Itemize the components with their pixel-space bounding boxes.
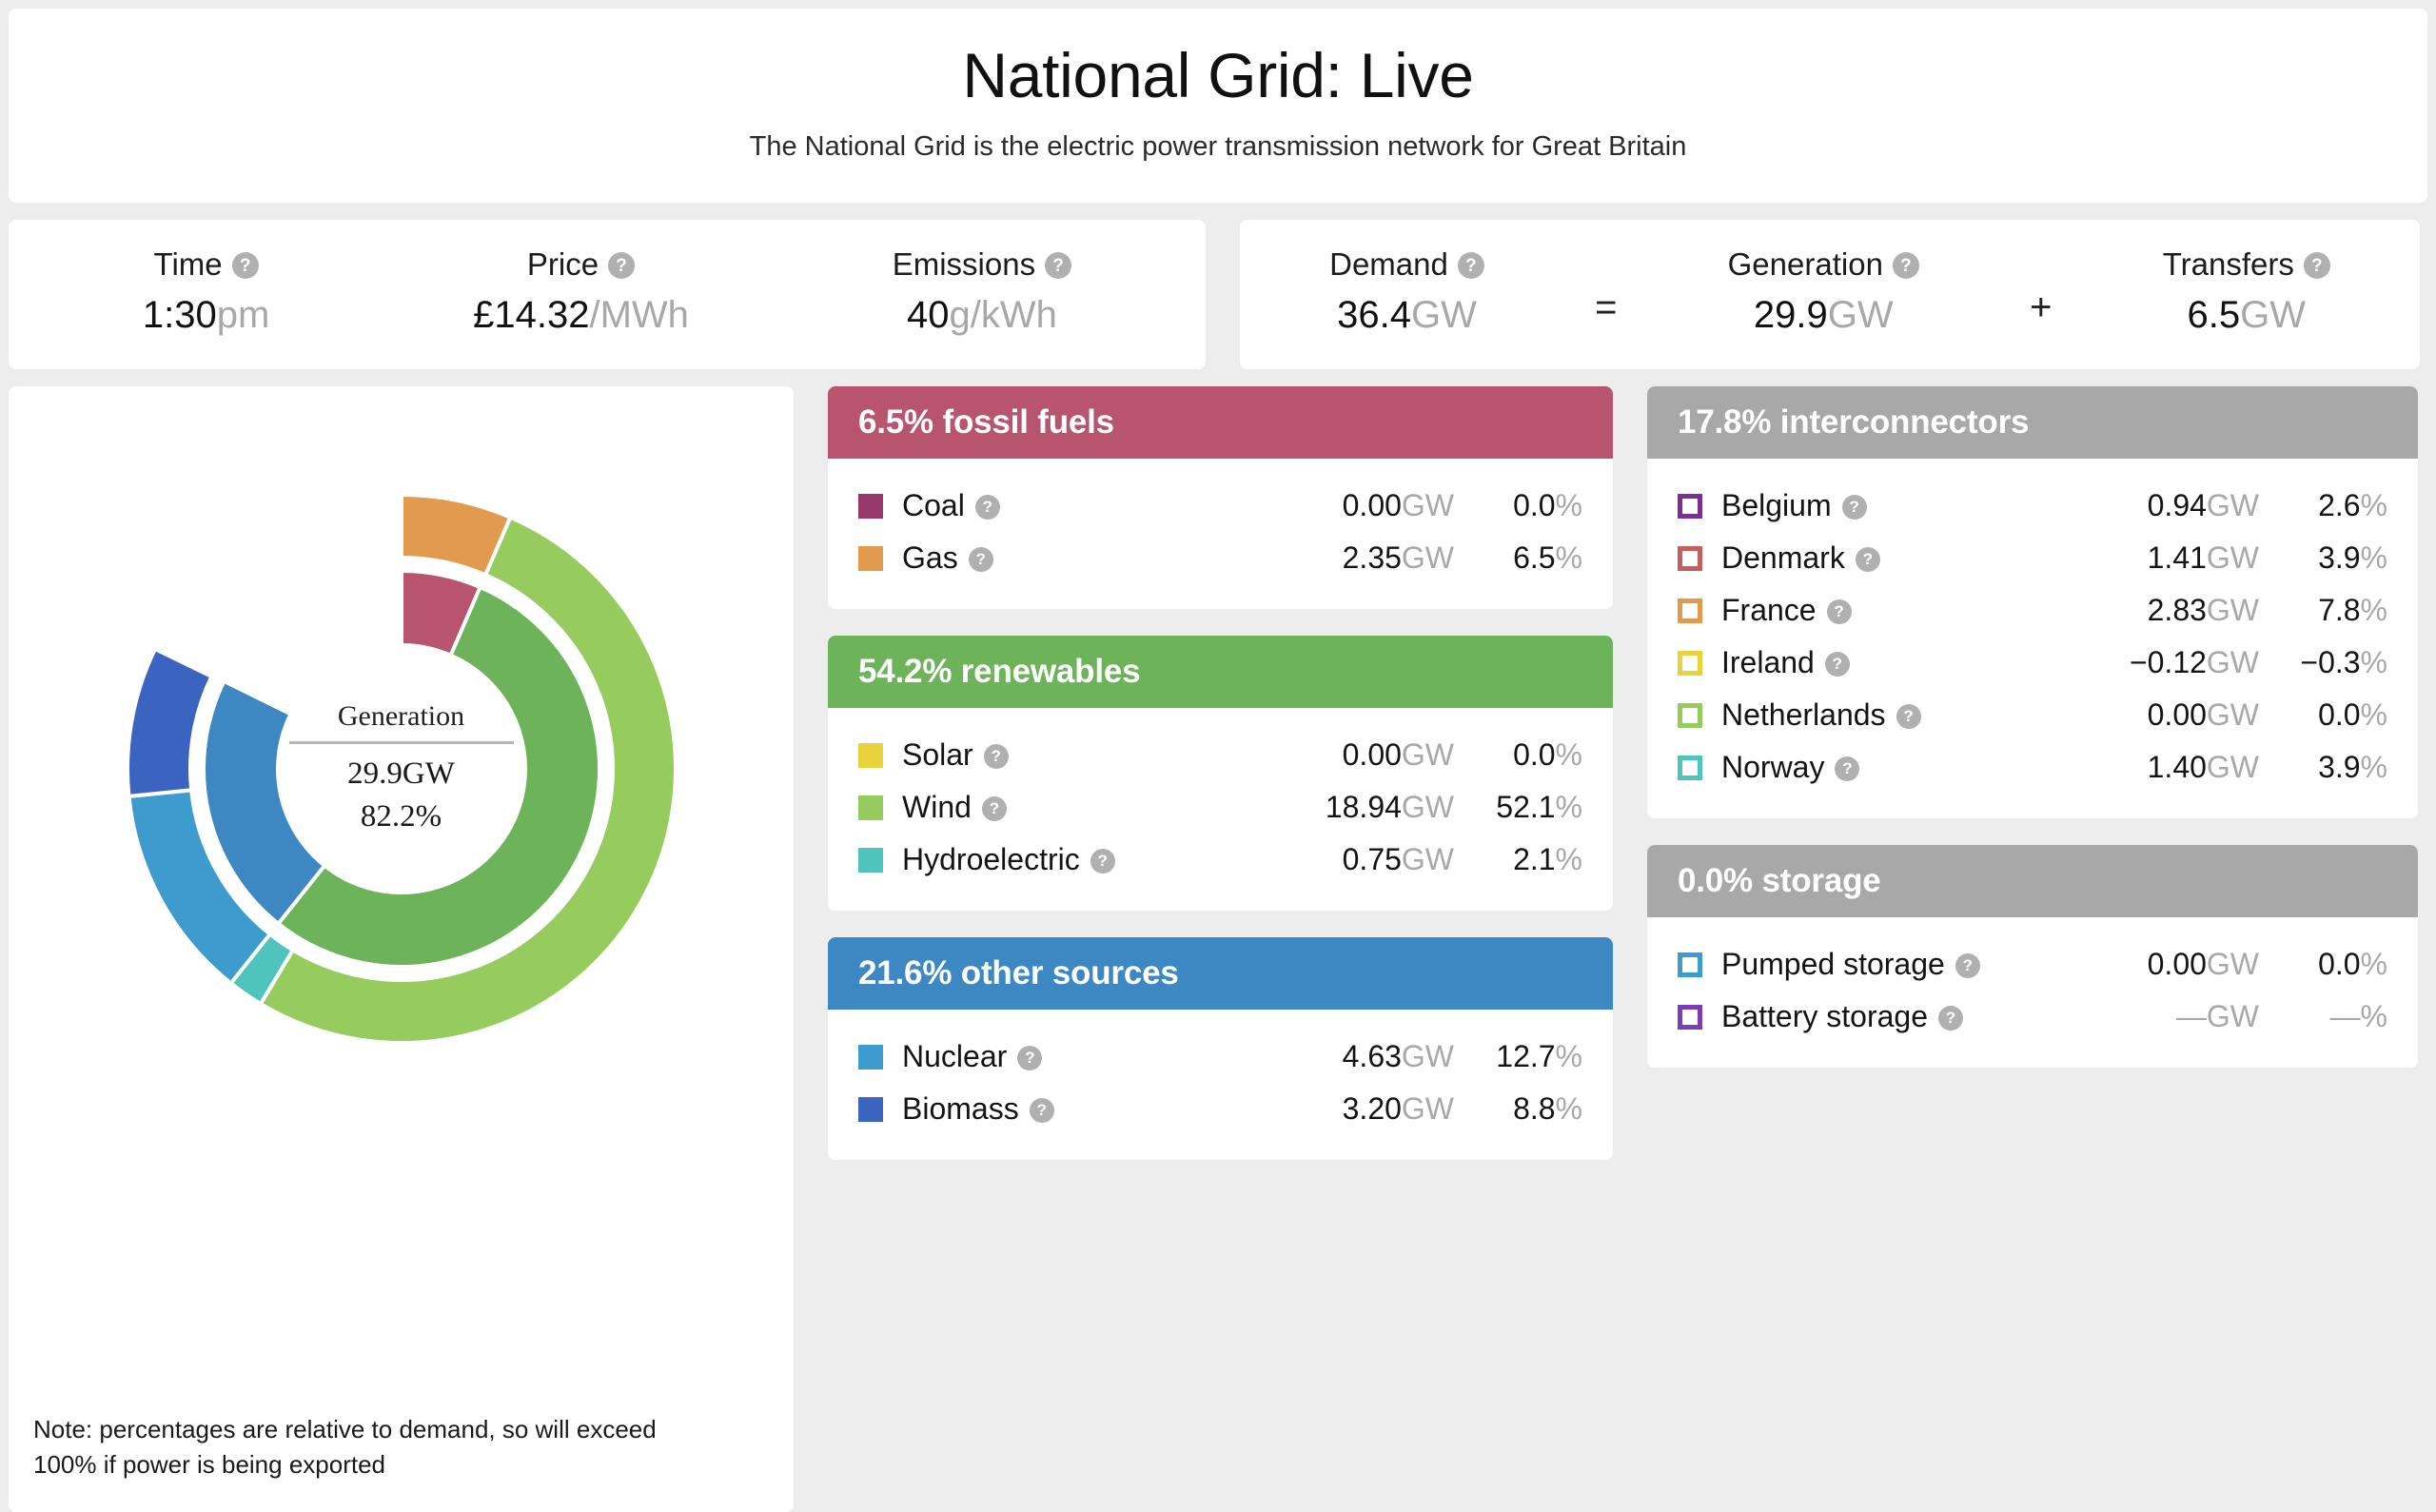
help-icon[interactable]: ? (2304, 252, 2330, 279)
stat-generation-label-text: Generation (1728, 246, 1883, 283)
table-row[interactable]: Biomass?3.20GW8.8% (858, 1083, 1582, 1135)
row-percent-value: 2.1% (1454, 842, 1582, 877)
help-icon[interactable]: ? (1938, 1006, 1963, 1031)
row-power-value: 0.75GW (1249, 842, 1454, 877)
color-swatch-icon (1678, 651, 1702, 676)
row-power-number: — (2176, 999, 2207, 1033)
source-card-other: 21.6% other sourcesNuclear?4.63GW12.7%Bi… (828, 937, 1613, 1160)
stat-transfers-unit: GW (2240, 294, 2306, 336)
card-header-interconnectors: 17.8% interconnectors (1647, 386, 2418, 459)
table-row[interactable]: Nuclear?4.63GW12.7% (858, 1031, 1582, 1083)
row-percent-unit: % (2361, 999, 2387, 1033)
row-power-unit: GW (2207, 697, 2259, 732)
stat-demand-unit: GW (1411, 294, 1477, 336)
card-body-other: Nuclear?4.63GW12.7%Biomass?3.20GW8.8% (828, 1010, 1613, 1160)
stat-emissions: Emissions ? 40g/kWh (883, 246, 1081, 337)
stat-time: Time ? 1:30pm (133, 246, 279, 337)
source-card-interconnectors: 17.8% interconnectorsBelgium?0.94GW2.6%D… (1647, 386, 2418, 818)
table-row[interactable]: Belgium?0.94GW2.6% (1678, 480, 2387, 532)
row-label-text: France (1721, 593, 1817, 628)
help-icon[interactable]: ? (1017, 1046, 1042, 1070)
row-power-number: 18.94 (1326, 790, 1402, 824)
row-percent-value: 3.9% (2259, 540, 2387, 576)
table-row[interactable]: Netherlands?0.00GW0.0% (1678, 689, 2387, 741)
stat-demand-label-text: Demand (1329, 246, 1448, 283)
row-power-unit: GW (2207, 947, 2259, 981)
donut-center-divider (289, 741, 514, 744)
help-icon[interactable]: ? (1825, 652, 1850, 677)
stat-price-label-text: Price (527, 246, 599, 283)
balance-equation-card: Demand ? 36.4GW = Generation ? 29.9GW + … (1240, 220, 2420, 369)
row-power-value: 0.00GW (2054, 697, 2259, 733)
table-row[interactable]: Norway?1.40GW3.9% (1678, 741, 2387, 794)
row-label-text: Denmark (1721, 540, 1845, 576)
stat-time-label-text: Time (154, 246, 223, 283)
stat-transfers-number: 6.5 (2188, 294, 2241, 336)
row-label: Pumped storage? (1721, 947, 1980, 982)
grid-metrics-card: Time ? 1:30pm Price ? £14.32/MWh Emissio… (9, 220, 1206, 369)
row-percent-unit: % (2361, 593, 2387, 627)
row-percent-unit: % (1556, 1091, 1582, 1126)
row-label: Norway? (1721, 750, 1859, 785)
row-power-value: −0.12GW (2054, 645, 2259, 680)
row-power-number: 0.75 (1343, 842, 1402, 876)
help-icon[interactable]: ? (1835, 756, 1859, 781)
row-power-value: 0.00GW (1249, 488, 1454, 523)
row-label: Solar? (902, 737, 1009, 773)
stat-emissions-number: 40 (907, 294, 950, 336)
row-percent-value: 0.0% (1454, 488, 1582, 523)
card-body-fossil: Coal?0.00GW0.0%Gas?2.35GW6.5% (828, 459, 1613, 609)
page-title: National Grid: Live (9, 43, 2427, 108)
page-header: National Grid: Live The National Grid is… (9, 9, 2427, 203)
row-label: Biomass? (902, 1091, 1054, 1127)
row-percent-number: −0.3 (2300, 645, 2360, 679)
row-label-text: Solar (902, 737, 973, 773)
row-percent-unit: % (1556, 842, 1582, 876)
row-power-number: 2.83 (2148, 593, 2207, 627)
row-percent-number: 0.0 (1513, 737, 1555, 772)
help-icon[interactable]: ? (1090, 849, 1115, 874)
stat-demand-number: 36.4 (1337, 294, 1411, 336)
row-percent-unit: % (2361, 645, 2387, 679)
help-icon[interactable]: ? (1955, 953, 1980, 978)
donut-center-value: 29.9GW (268, 753, 535, 795)
stat-time-value: 1:30pm (143, 294, 269, 337)
row-power-value: 4.63GW (1249, 1039, 1454, 1074)
row-percent-unit: % (1556, 488, 1582, 522)
help-icon[interactable]: ? (232, 252, 259, 279)
equals-operator: = (1589, 254, 1622, 329)
source-card-renewables: 54.2% renewablesSolar?0.00GW0.0%Wind?18.… (828, 636, 1613, 911)
row-percent-value: 0.0% (2259, 697, 2387, 733)
row-percent-number: 0.0 (1513, 488, 1555, 522)
row-percent-number: 0.0 (2318, 697, 2360, 732)
generation-column: Generation Generation 29.9GW 82.2% (9, 386, 794, 1512)
row-percent-number: 3.9 (2318, 540, 2360, 575)
color-swatch-icon (1678, 546, 1702, 571)
row-label-text: Coal (902, 488, 965, 523)
row-power-value: 18.94GW (1249, 790, 1454, 825)
stat-generation-number: 29.9 (1754, 294, 1828, 336)
row-label: Denmark? (1721, 540, 1880, 576)
row-percent-value: 12.7% (1454, 1039, 1582, 1074)
row-percent-unit: % (2361, 540, 2387, 575)
stat-demand-value: 36.4GW (1329, 294, 1484, 337)
row-percent-value: —% (2259, 999, 2387, 1034)
row-percent-number: 2.1 (1513, 842, 1555, 876)
row-power-unit: GW (2207, 750, 2259, 784)
row-label-text: Gas (902, 540, 958, 576)
row-label-text: Wind (902, 790, 972, 825)
row-power-number: 1.40 (2148, 750, 2207, 784)
color-swatch-icon (858, 848, 883, 873)
row-percent-number: 6.5 (1513, 540, 1555, 575)
stat-generation-unit: GW (1828, 294, 1894, 336)
help-icon[interactable]: ? (1842, 495, 1867, 520)
row-percent-value: −0.3% (2259, 645, 2387, 680)
row-label-text: Nuclear (902, 1039, 1007, 1074)
row-percent-value: 6.5% (1454, 540, 1582, 576)
card-body-interconnectors: Belgium?0.94GW2.6%Denmark?1.41GW3.9%Fran… (1647, 459, 2418, 818)
row-power-number: 0.00 (2148, 947, 2207, 981)
row-label: Coal? (902, 488, 1000, 523)
card-header-fossil: 6.5% fossil fuels (828, 386, 1613, 459)
generation-card-header: Generation (9, 386, 794, 459)
stat-price-value: £14.32/MWh (473, 294, 689, 337)
row-power-value: 1.40GW (2054, 750, 2259, 785)
middle-column: 6.5% fossil fuelsCoal?0.00GW0.0%Gas?2.35… (828, 386, 1613, 1512)
row-percent-unit: % (2361, 697, 2387, 732)
card-header-other: 21.6% other sources (828, 937, 1613, 1010)
help-icon[interactable]: ? (984, 744, 1009, 769)
row-label-text: Belgium (1721, 488, 1832, 523)
row-label-text: Pumped storage (1721, 947, 1945, 982)
stat-generation-value: 29.9GW (1728, 294, 1919, 337)
help-icon[interactable]: ? (969, 547, 993, 572)
row-power-number: 0.00 (1343, 737, 1402, 772)
row-power-value: 0.00GW (1249, 737, 1454, 773)
help-icon[interactable]: ? (982, 796, 1007, 821)
color-swatch-icon (858, 1045, 883, 1070)
row-percent-value: 2.6% (2259, 488, 2387, 523)
color-swatch-icon (1678, 1005, 1702, 1030)
row-power-unit: GW (1402, 842, 1454, 876)
row-percent-number: 12.7 (1496, 1039, 1555, 1073)
stat-price-unit: /MWh (589, 294, 688, 336)
row-label: Belgium? (1721, 488, 1867, 523)
row-power-unit: GW (2207, 540, 2259, 575)
row-power-unit: GW (2207, 488, 2259, 522)
help-icon[interactable]: ? (1827, 599, 1852, 624)
row-power-number: 1.41 (2148, 540, 2207, 575)
stat-time-number: 1:30 (143, 294, 217, 336)
help-icon[interactable]: ? (1030, 1098, 1054, 1123)
stat-generation-label: Generation ? (1728, 246, 1919, 283)
row-power-value: 3.20GW (1249, 1091, 1454, 1127)
row-power-number: 0.00 (2148, 697, 2207, 732)
row-power-value: 2.35GW (1249, 540, 1454, 576)
card-header-storage: 0.0% storage (1647, 845, 2418, 917)
table-row[interactable]: Wind?18.94GW52.1% (858, 781, 1582, 834)
generation-card-body: Generation 29.9GW 82.2% Note: percentage… (9, 459, 794, 1512)
stat-transfers-label: Transfers ? (2163, 246, 2330, 283)
table-row[interactable]: Pumped storage?0.00GW0.0% (1678, 938, 2387, 991)
row-percent-unit: % (2361, 750, 2387, 784)
row-power-value: 2.83GW (2054, 593, 2259, 628)
row-power-value: 0.00GW (2054, 947, 2259, 982)
color-swatch-icon (858, 743, 883, 768)
stat-generation: Generation ? 29.9GW (1719, 246, 1929, 337)
row-percent-number: 0.0 (2318, 947, 2360, 981)
row-label: Ireland? (1721, 645, 1850, 680)
row-power-number: 0.94 (2148, 488, 2207, 522)
row-percent-value: 7.8% (2259, 593, 2387, 628)
row-percent-unit: % (2361, 488, 2387, 522)
row-label-text: Hydroelectric (902, 842, 1080, 877)
color-swatch-icon (1678, 756, 1702, 780)
row-power-value: 0.94GW (2054, 488, 2259, 523)
row-percent-number: 7.8 (2318, 593, 2360, 627)
table-row[interactable]: Gas?2.35GW6.5% (858, 532, 1582, 584)
card-header-renewables: 54.2% renewables (828, 636, 1613, 708)
help-icon[interactable]: ? (1896, 704, 1921, 729)
source-card-fossil: 6.5% fossil fuelsCoal?0.00GW0.0%Gas?2.35… (828, 386, 1613, 609)
row-power-value: 1.41GW (2054, 540, 2259, 576)
row-percent-value: 3.9% (2259, 750, 2387, 785)
table-row[interactable]: Battery storage?—GW—% (1678, 991, 2387, 1043)
row-percent-unit: % (2361, 947, 2387, 981)
row-power-number: 3.20 (1343, 1091, 1402, 1126)
color-swatch-icon (1678, 494, 1702, 519)
row-power-unit: GW (1402, 1039, 1454, 1073)
color-swatch-icon (858, 494, 883, 519)
row-power-unit: GW (1402, 737, 1454, 772)
table-row[interactable]: Hydroelectric?0.75GW2.1% (858, 834, 1582, 886)
row-label: Hydroelectric? (902, 842, 1115, 877)
donut-center-title: Generation (268, 700, 535, 733)
row-power-number: 0.00 (1343, 488, 1402, 522)
stat-transfers-value: 6.5GW (2163, 294, 2330, 337)
help-icon[interactable]: ? (1856, 547, 1880, 572)
color-swatch-icon (858, 546, 883, 571)
row-percent-number: 52.1 (1496, 790, 1555, 824)
dashboard-page: National Grid: Live The National Grid is… (0, 0, 2436, 1512)
stat-emissions-value: 40g/kWh (893, 294, 1071, 337)
help-icon[interactable]: ? (975, 495, 1000, 520)
donut-center-percent: 82.2% (268, 795, 535, 838)
row-power-number: −0.12 (2130, 645, 2207, 679)
row-percent-value: 52.1% (1454, 790, 1582, 825)
color-swatch-icon (1678, 703, 1702, 728)
row-label: Nuclear? (902, 1039, 1042, 1074)
row-label: Gas? (902, 540, 993, 576)
help-icon[interactable]: ? (608, 252, 635, 279)
donut-slice-biomass[interactable] (128, 649, 211, 796)
stat-price-label: Price ? (473, 246, 689, 283)
stat-emissions-unit: g/kWh (949, 294, 1056, 336)
generation-note: Note: percentages are relative to demand… (33, 1412, 699, 1483)
right-column: 17.8% interconnectorsBelgium?0.94GW2.6%D… (1647, 386, 2418, 1512)
row-percent-number: 2.6 (2318, 488, 2360, 522)
stat-time-unit: pm (217, 294, 270, 336)
stat-price: Price ? £14.32/MWh (463, 246, 698, 337)
generation-card: Generation Generation 29.9GW 82.2% (9, 386, 794, 1512)
row-label: France? (1721, 593, 1852, 628)
row-label: Wind? (902, 790, 1007, 825)
table-row[interactable]: Denmark?1.41GW3.9% (1678, 532, 2387, 584)
stat-emissions-label-text: Emissions (893, 246, 1035, 283)
generation-card-title: Generation (39, 403, 213, 441)
stat-demand: Demand ? 36.4GW (1320, 246, 1494, 337)
row-label-text: Netherlands (1721, 697, 1886, 733)
row-power-unit: GW (2207, 999, 2259, 1033)
row-power-value: —GW (2054, 999, 2259, 1034)
table-row[interactable]: France?2.83GW7.8% (1678, 584, 2387, 637)
card-body-renewables: Solar?0.00GW0.0%Wind?18.94GW52.1%Hydroel… (828, 708, 1613, 911)
color-swatch-icon (1678, 599, 1702, 623)
table-row[interactable]: Ireland?−0.12GW−0.3% (1678, 637, 2387, 689)
row-label-text: Battery storage (1721, 999, 1928, 1034)
row-label-text: Ireland (1721, 645, 1815, 680)
row-percent-value: 0.0% (1454, 737, 1582, 773)
stat-time-label: Time ? (143, 246, 269, 283)
stat-transfers: Transfers ? 6.5GW (2153, 246, 2340, 337)
row-percent-number: — (2330, 999, 2361, 1033)
table-row[interactable]: Solar?0.00GW0.0% (858, 729, 1582, 781)
row-power-unit: GW (2207, 645, 2259, 679)
main-content: Generation Generation 29.9GW 82.2% (9, 386, 2427, 1512)
row-percent-value: 0.0% (2259, 947, 2387, 982)
help-icon[interactable]: ? (1045, 252, 1071, 279)
row-power-unit: GW (1402, 790, 1454, 824)
row-percent-unit: % (1556, 737, 1582, 772)
page-subtitle: The National Grid is the electric power … (9, 131, 2427, 163)
stat-transfers-label-text: Transfers (2163, 246, 2294, 283)
row-power-unit: GW (2207, 593, 2259, 627)
row-power-number: 2.35 (1343, 540, 1402, 575)
row-label-text: Biomass (902, 1091, 1019, 1127)
row-label-text: Norway (1721, 750, 1824, 785)
stat-emissions-label: Emissions ? (893, 246, 1071, 283)
row-power-unit: GW (1402, 488, 1454, 522)
row-power-unit: GW (1402, 1091, 1454, 1126)
row-percent-value: 8.8% (1454, 1091, 1582, 1127)
row-percent-unit: % (1556, 540, 1582, 575)
stat-price-number: £14.32 (473, 294, 589, 336)
source-card-storage: 0.0% storagePumped storage?0.00GW0.0%Bat… (1647, 845, 2418, 1068)
color-swatch-icon (858, 795, 883, 820)
color-swatch-icon (1678, 952, 1702, 977)
row-percent-number: 8.8 (1513, 1091, 1555, 1126)
plus-operator: + (2024, 254, 2057, 329)
row-percent-unit: % (1556, 790, 1582, 824)
generation-donut-chart: Generation 29.9GW 82.2% (116, 483, 687, 1054)
row-label: Netherlands? (1721, 697, 1921, 733)
row-percent-number: 3.9 (2318, 750, 2360, 784)
row-label: Battery storage? (1721, 999, 1963, 1034)
stat-demand-label: Demand ? (1329, 246, 1484, 283)
row-power-number: 4.63 (1343, 1039, 1402, 1073)
help-icon[interactable]: ? (1458, 252, 1484, 279)
row-power-unit: GW (1402, 540, 1454, 575)
row-percent-unit: % (1556, 1039, 1582, 1073)
donut-center-label: Generation 29.9GW 82.2% (268, 700, 535, 837)
table-row[interactable]: Coal?0.00GW0.0% (858, 480, 1582, 532)
card-body-storage: Pumped storage?0.00GW0.0%Battery storage… (1647, 917, 2418, 1068)
color-swatch-icon (858, 1097, 883, 1122)
stats-row: Time ? 1:30pm Price ? £14.32/MWh Emissio… (9, 220, 2427, 369)
help-icon[interactable]: ? (1893, 252, 1919, 279)
